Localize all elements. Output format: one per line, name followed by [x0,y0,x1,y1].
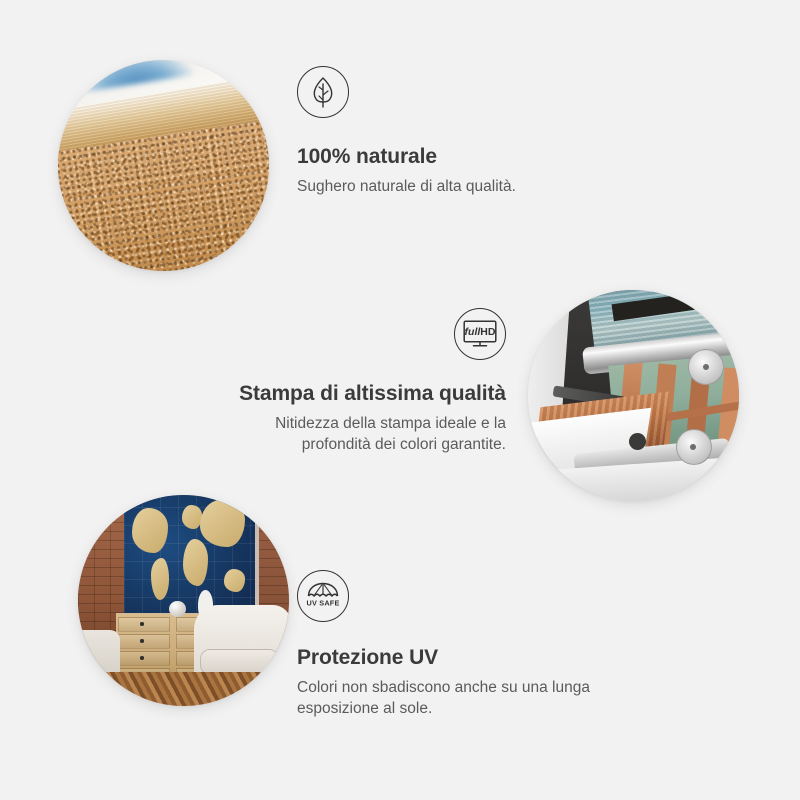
promo-feature-board: 100% naturale Sughero naturale di alta q… [0,0,800,800]
interior-world-map-photo [78,495,289,706]
room-photo-herringbone-floor [78,672,289,706]
full-hd-monitor-icon: fullHD [454,308,506,360]
feature-natural-title: 100% naturale [297,145,627,169]
feature-natural: 100% naturale Sughero naturale di alta q… [297,66,627,197]
room-photo-decor-globe [169,601,186,618]
svg-text:fullHD: fullHD [465,326,496,338]
leaf-icon [297,66,349,118]
feature-print-quality-title: Stampa di altissima qualità [186,382,506,406]
printing-machine-photo [528,290,739,501]
printer-photo-disc-lower [676,429,712,465]
feature-uv-protection-title: Protezione UV [297,646,677,670]
feature-uv-protection-description-line1: Colori non sbadiscono anche su una lunga [297,679,590,696]
feature-natural-description: Sughero naturale di alta qualità. [297,176,627,197]
svg-text:UV SAFE: UV SAFE [306,599,339,608]
printer-photo-disc-upper [688,349,724,385]
feature-print-quality: fullHD Stampa di altissima qualità Nitid… [186,308,506,456]
feature-uv-protection-description-line2: esposizione al sole. [297,700,432,717]
cork-texture-photo [58,60,269,271]
feature-uv-protection: UV SAFE Protezione UV Colori non sbadisc… [297,570,677,720]
feature-print-quality-description-line2: profondità dei colori garantite. [302,436,506,453]
feature-print-quality-description-line1: Nitidezza della stampa ideale e la [275,415,506,432]
uv-safe-umbrella-icon: UV SAFE [297,570,349,622]
